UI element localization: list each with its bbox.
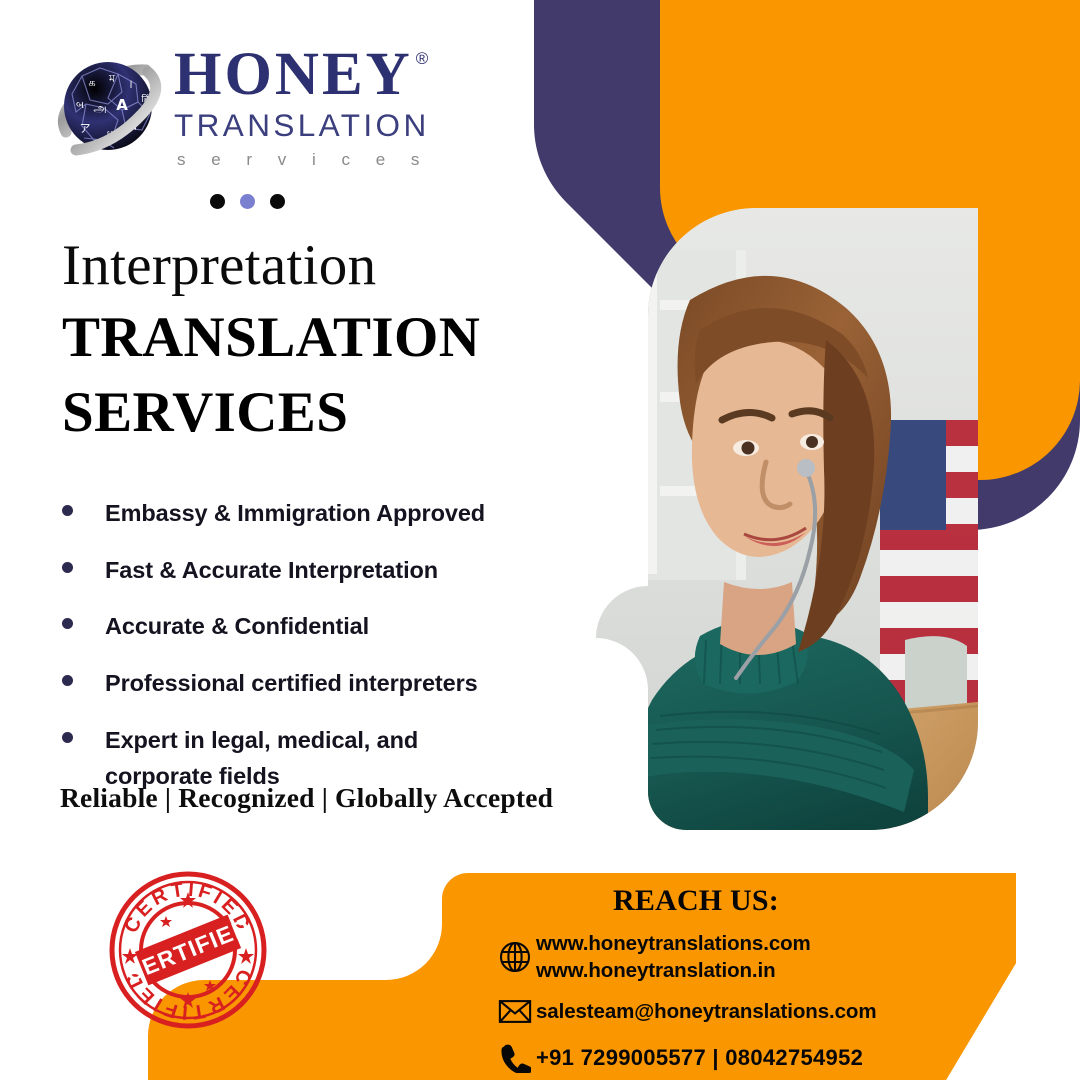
bullet-dot-icon <box>62 618 73 629</box>
headline-block: Interpretation TRANSLATION SERVICES <box>62 236 532 446</box>
contact-row-email[interactable]: salesteam@honeytranslations.com <box>494 998 1054 1025</box>
svg-text:ア: ア <box>80 122 91 135</box>
contact-row-phone[interactable]: +91 7299005577 | 08042754952 <box>494 1041 1054 1073</box>
interpreter-photo <box>560 190 1010 858</box>
svg-text:க: க <box>88 76 95 89</box>
website-1[interactable]: www.honeytranslations.com <box>536 930 811 957</box>
headline-bold-1: TRANSLATION <box>62 304 532 371</box>
list-item: Accurate & Confidential <box>56 609 526 645</box>
brand-logo[interactable]: க ম ا हिं બ அ A ア ಅ ਪ HONEY ® <box>52 42 472 209</box>
list-item-label: Fast & Accurate Interpretation <box>105 553 438 589</box>
contact-row-website[interactable]: www.honeytranslations.com www.honeytrans… <box>494 930 1054 984</box>
list-item: Fast & Accurate Interpretation <box>56 553 526 589</box>
phone-icon <box>494 1041 536 1073</box>
logo-name-third: s e r v i c e s <box>177 147 430 173</box>
logo-dots <box>210 194 472 209</box>
svg-text:அ: அ <box>93 101 106 115</box>
reach-us-title: REACH US: <box>613 884 779 918</box>
dot-1 <box>210 194 225 209</box>
website-2[interactable]: www.honeytranslation.in <box>536 957 811 984</box>
list-item: Embassy & Immigration Approved <box>56 496 526 532</box>
registered-mark-icon: ® <box>416 50 429 67</box>
list-item-label: Professional certified interpreters <box>105 666 478 702</box>
globe-languages-icon: க ম ا हिं બ அ A ア ಅ ਪ <box>52 46 170 168</box>
list-item-label: Embassy & Immigration Approved <box>105 496 485 532</box>
feature-list: Embassy & Immigration Approved Fast & Ac… <box>56 496 526 815</box>
tagline: Reliable | Recognized | Globally Accepte… <box>60 782 553 814</box>
dot-3 <box>270 194 285 209</box>
dot-2 <box>240 194 255 209</box>
bullet-dot-icon <box>62 732 73 743</box>
list-item-label: Accurate & Confidential <box>105 609 369 645</box>
email-address[interactable]: salesteam@honeytranslations.com <box>536 998 876 1025</box>
svg-text:ম: ম <box>108 72 116 85</box>
bullet-dot-icon <box>62 675 73 686</box>
globe-icon <box>494 940 536 974</box>
certified-stamp-icon: CERTIFIED CERTIFIED CERTIFIED <box>106 868 271 1033</box>
headline-bold-2: SERVICES <box>62 379 532 446</box>
bullet-dot-icon <box>62 505 73 516</box>
headline-script: Interpretation <box>62 236 532 296</box>
svg-text:બ: બ <box>76 100 84 111</box>
svg-text:ا: ا <box>130 80 133 91</box>
list-item: Professional certified interpreters <box>56 666 526 702</box>
contact-block: www.honeytranslations.com www.honeytrans… <box>494 930 1054 1087</box>
svg-text:A: A <box>116 96 128 114</box>
envelope-icon <box>494 998 536 1025</box>
bullet-dot-icon <box>62 562 73 573</box>
logo-name-main: HONEY <box>174 46 413 105</box>
logo-name-second: TRANSLATION <box>174 106 430 144</box>
phone-numbers[interactable]: +91 7299005577 | 08042754952 <box>536 1043 863 1072</box>
